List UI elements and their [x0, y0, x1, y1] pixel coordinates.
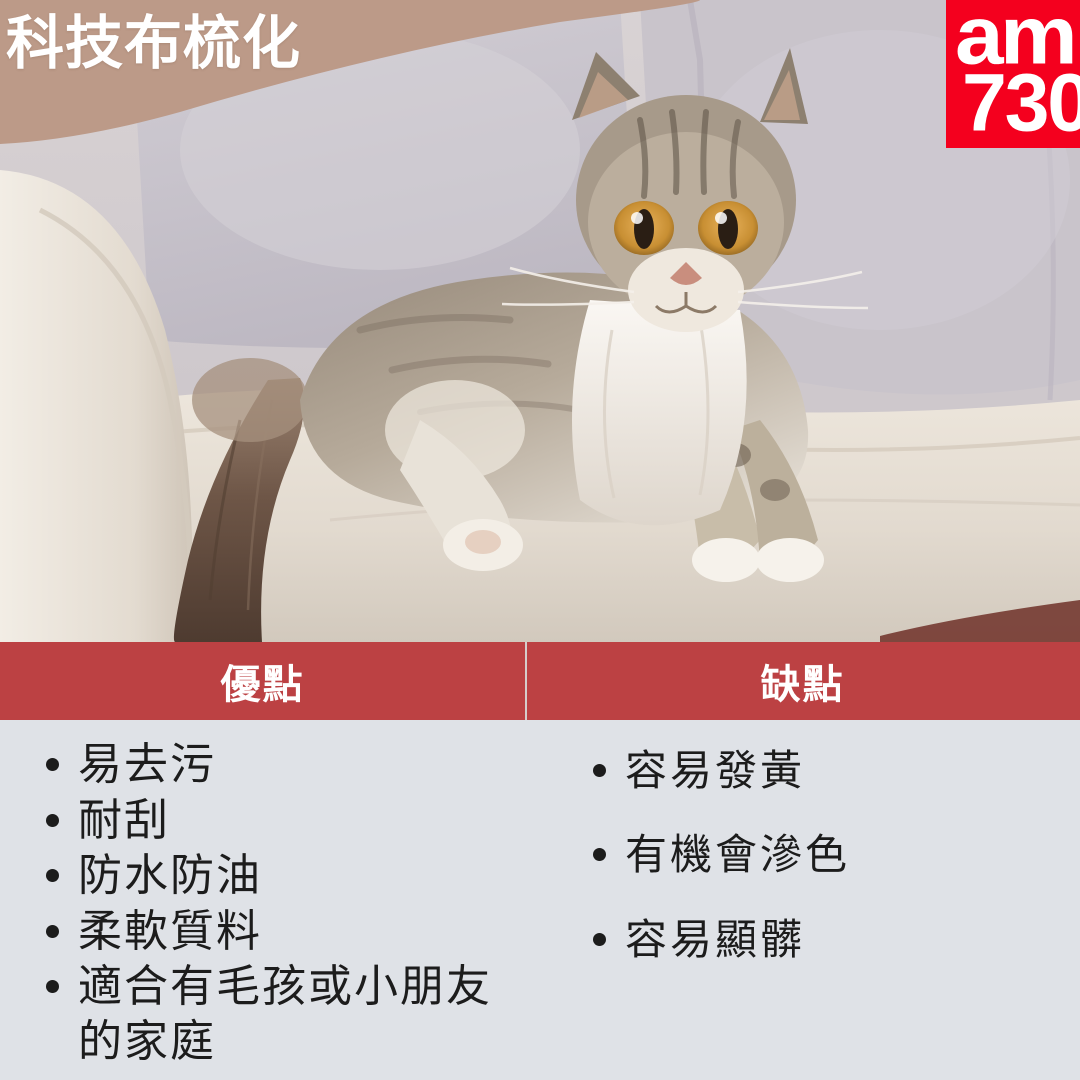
- column-cons: 容易發黃 有機會滲色 容易顯髒: [525, 720, 1080, 1080]
- table-header-row: 優點 缺點: [0, 642, 1080, 720]
- column-pros: 易去污 耐刮 防水防油 柔軟質料 適合有毛孩或小朋友的家庭: [0, 720, 525, 1080]
- list-item: 耐刮: [38, 794, 511, 849]
- list-item: 容易顯髒: [585, 915, 1066, 965]
- pros-cons-table: 優點 缺點 易去污 耐刮 防水防油 柔軟質料 適合有毛孩或小朋友的家庭 容易發黃…: [0, 642, 1080, 1080]
- am730-logo[interactable]: am 730: [946, 0, 1080, 148]
- list-item: 易去污: [38, 738, 511, 793]
- list-item: 有機會滲色: [585, 830, 1066, 880]
- list-item: 防水防油: [38, 849, 511, 904]
- logo-730-text: 730: [962, 62, 1080, 144]
- photo-illustration: [0, 0, 1080, 642]
- column-header-cons: 缺點: [525, 642, 1080, 720]
- page-title: 科技布梳化: [6, 14, 301, 75]
- pros-list: 易去污 耐刮 防水防油 柔軟質料 適合有毛孩或小朋友的家庭: [38, 738, 511, 1069]
- cons-list: 容易發黃 有機會滲色 容易顯髒: [585, 746, 1066, 965]
- infographic-card: 科技布梳化 am 730 優點 缺點 易去污 耐刮 防水防油 柔軟質料 適合有毛…: [0, 0, 1080, 1080]
- list-item: 柔軟質料: [38, 905, 511, 960]
- list-item: 適合有毛孩或小朋友的家庭: [38, 960, 511, 1069]
- table-body: 易去污 耐刮 防水防油 柔軟質料 適合有毛孩或小朋友的家庭 容易發黃 有機會滲色…: [0, 720, 1080, 1080]
- hero-photo: [0, 0, 1080, 642]
- column-header-pros: 優點: [0, 642, 525, 720]
- list-item: 容易發黃: [585, 746, 1066, 796]
